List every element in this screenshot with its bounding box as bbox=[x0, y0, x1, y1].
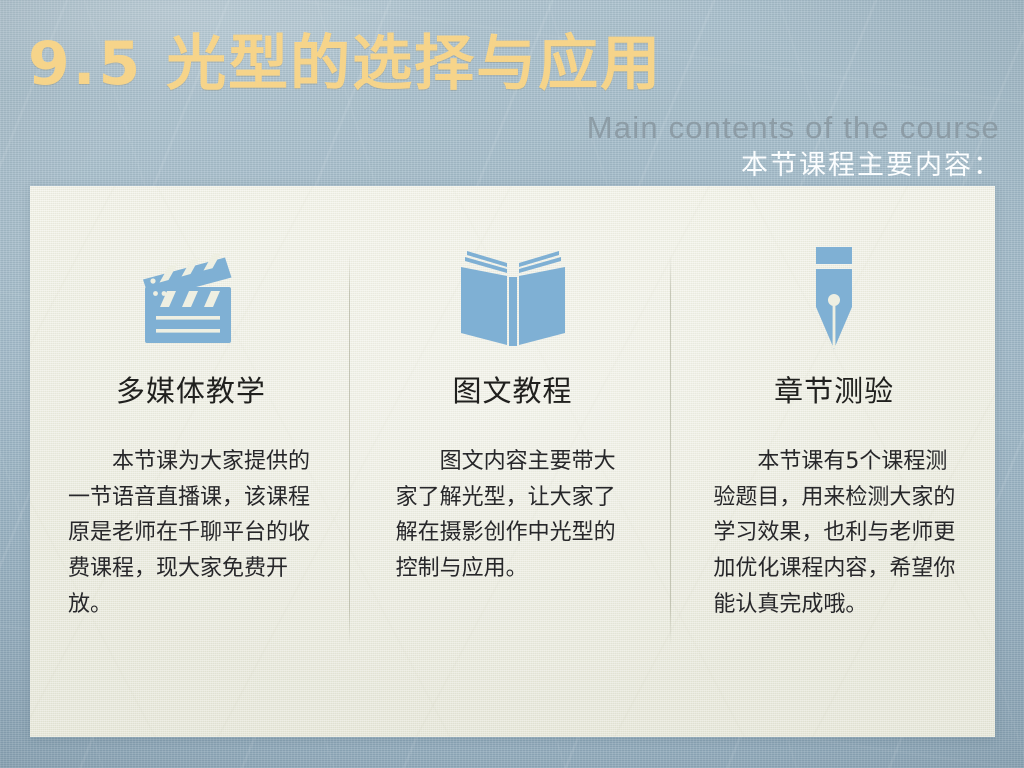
slide-canvas: 9.5 光型的选择与应用 Main contents of the course… bbox=[0, 0, 1024, 768]
page-title-number: 9.5 bbox=[28, 29, 143, 99]
content-column-quiz: 章节测验 本节课有5个课程测验题目，用来检测大家的学习效果，也利与老师更加优化课… bbox=[673, 186, 995, 737]
clapperboard-icon bbox=[139, 249, 243, 349]
pen-nib-icon bbox=[799, 245, 869, 353]
column-body-text: 本节课有5个课程测验题目，用来检测大家的学习效果，也利与老师更加优化课程内容，希… bbox=[713, 444, 965, 622]
column-heading: 多媒体教学 bbox=[30, 368, 352, 410]
columns-container: 多媒体教学 本节课为大家提供的一节语音直播课，该课程原是老师在千聊平台的收费课程… bbox=[30, 186, 995, 737]
content-column-multimedia: 多媒体教学 本节课为大家提供的一节语音直播课，该课程原是老师在千聊平台的收费课程… bbox=[30, 186, 352, 737]
column-body-text: 图文内容主要带大家了解光型，让大家了解在摄影创作中光型的控制与应用。 bbox=[396, 444, 630, 587]
clapperboard-icon-wrap bbox=[30, 244, 352, 354]
column-heading: 图文教程 bbox=[352, 368, 674, 410]
page-title: 9.5 光型的选择与应用 bbox=[28, 34, 662, 94]
open-book-icon bbox=[459, 249, 567, 349]
pen-nib-icon-wrap bbox=[673, 244, 995, 354]
content-column-tutorial: 图文教程 图文内容主要带大家了解光型，让大家了解在摄影创作中光型的控制与应用。 bbox=[352, 186, 674, 737]
column-heading: 章节测验 bbox=[673, 368, 995, 410]
subtitle-chinese: 本节课程主要内容： bbox=[741, 143, 1002, 182]
page-title-text: 光型的选择与应用 bbox=[166, 29, 662, 99]
open-book-icon-wrap bbox=[352, 244, 674, 354]
content-card: 多媒体教学 本节课为大家提供的一节语音直播课，该课程原是老师在千聊平台的收费课程… bbox=[30, 186, 995, 737]
column-body-text: 本节课为大家提供的一节语音直播课，该课程原是老师在千聊平台的收费课程，现大家免费… bbox=[68, 444, 314, 622]
subtitle-english: Main contents of the course bbox=[587, 110, 1000, 146]
